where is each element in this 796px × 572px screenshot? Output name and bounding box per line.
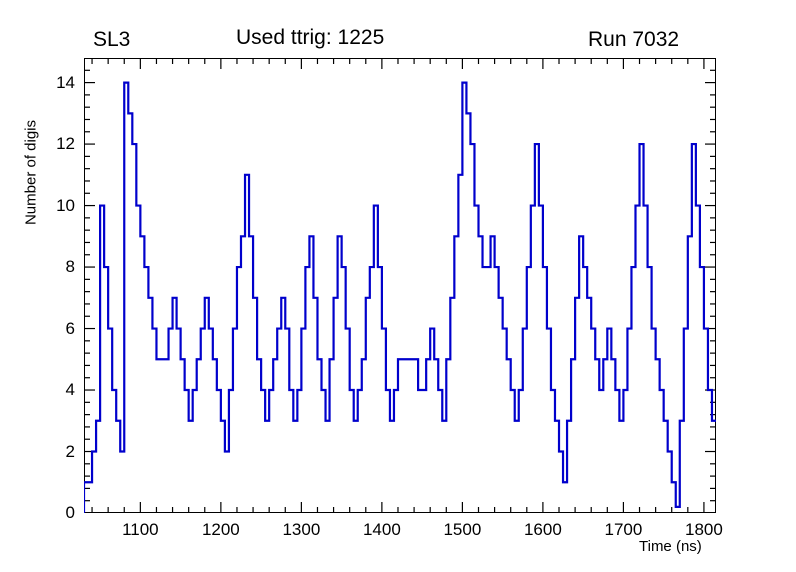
x-tick-label: 1400 — [360, 520, 404, 540]
run-label: Run 7032 — [588, 28, 679, 52]
x-tick-label: 1500 — [440, 520, 484, 540]
y-axis-title: Number of digis — [23, 93, 40, 253]
chart-canvas: SL3 Used ttrig: 1225 Run 7032 Number of … — [0, 0, 796, 572]
plot-area — [84, 58, 716, 513]
data-plot — [84, 58, 716, 513]
x-tick-label: 1200 — [199, 520, 243, 540]
x-axis-title: Time (ns) — [639, 538, 702, 555]
y-tick-label: 10 — [44, 196, 75, 216]
y-tick-label: 0 — [44, 503, 75, 523]
y-tick-label: 4 — [44, 380, 75, 400]
y-tick-label: 6 — [44, 319, 75, 339]
x-tick-label: 1600 — [521, 520, 565, 540]
y-tick-label: 8 — [44, 257, 75, 277]
x-tick-label: 1700 — [601, 520, 645, 540]
panel-label-sl3: SL3 — [93, 28, 130, 52]
y-tick-label: 2 — [44, 442, 75, 462]
x-tick-label: 1100 — [118, 520, 162, 540]
y-tick-label: 14 — [44, 73, 75, 93]
chart-title: Used ttrig: 1225 — [236, 26, 384, 50]
x-tick-label: 1300 — [279, 520, 323, 540]
x-tick-label: 1800 — [682, 520, 726, 540]
y-tick-label: 12 — [44, 134, 75, 154]
